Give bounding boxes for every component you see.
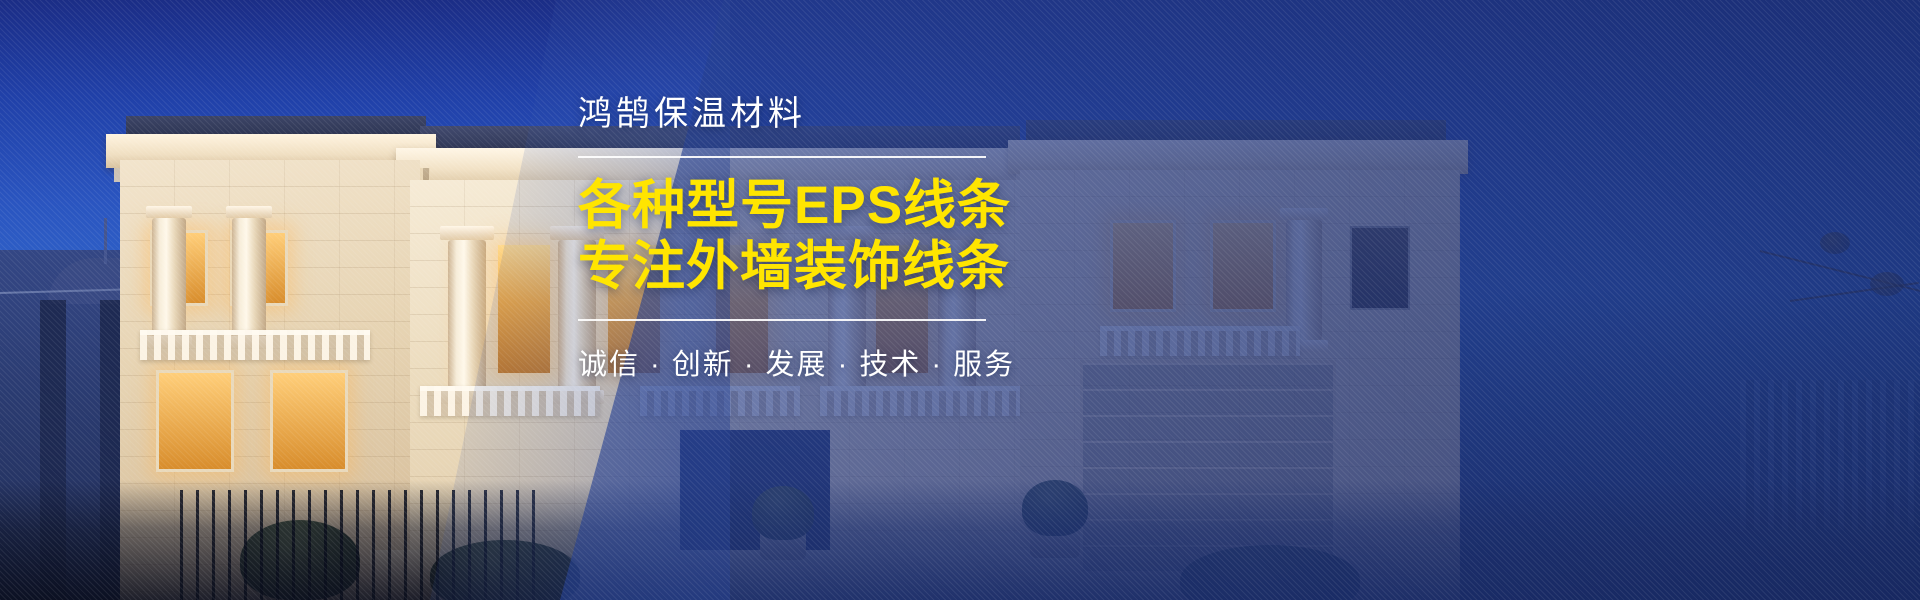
banner-copy-block: 鸿鹄保温材料 各种型号EPS线条 专注外墙装饰线条 诚信 · 创新 · 发展 ·… [578,96,1048,383]
column [152,218,186,338]
column-capital [226,206,272,218]
column-capital [440,226,494,240]
divider-rule-top [578,156,986,158]
company-name: 鸿鹄保温材料 [578,96,1048,133]
left-wing-roof [126,116,426,136]
tagline: 诚信 · 创新 · 发展 · 技术 · 服务 [578,341,1048,383]
window-lit [156,370,234,472]
headline-line-2: 专注外墙装饰线条 [578,237,1048,297]
headline-line-1: 各种型号EPS线条 [578,176,1048,236]
window-lit [270,370,348,472]
column-capital [146,206,192,218]
background-antenna-mast [104,218,107,264]
promotional-banner: 鸿鹄保温材料 各种型号EPS线条 专注外墙装饰线条 诚信 · 创新 · 发展 ·… [0,0,1920,600]
balustrade [140,330,370,360]
divider-rule-bottom [578,319,986,321]
column [232,218,266,338]
